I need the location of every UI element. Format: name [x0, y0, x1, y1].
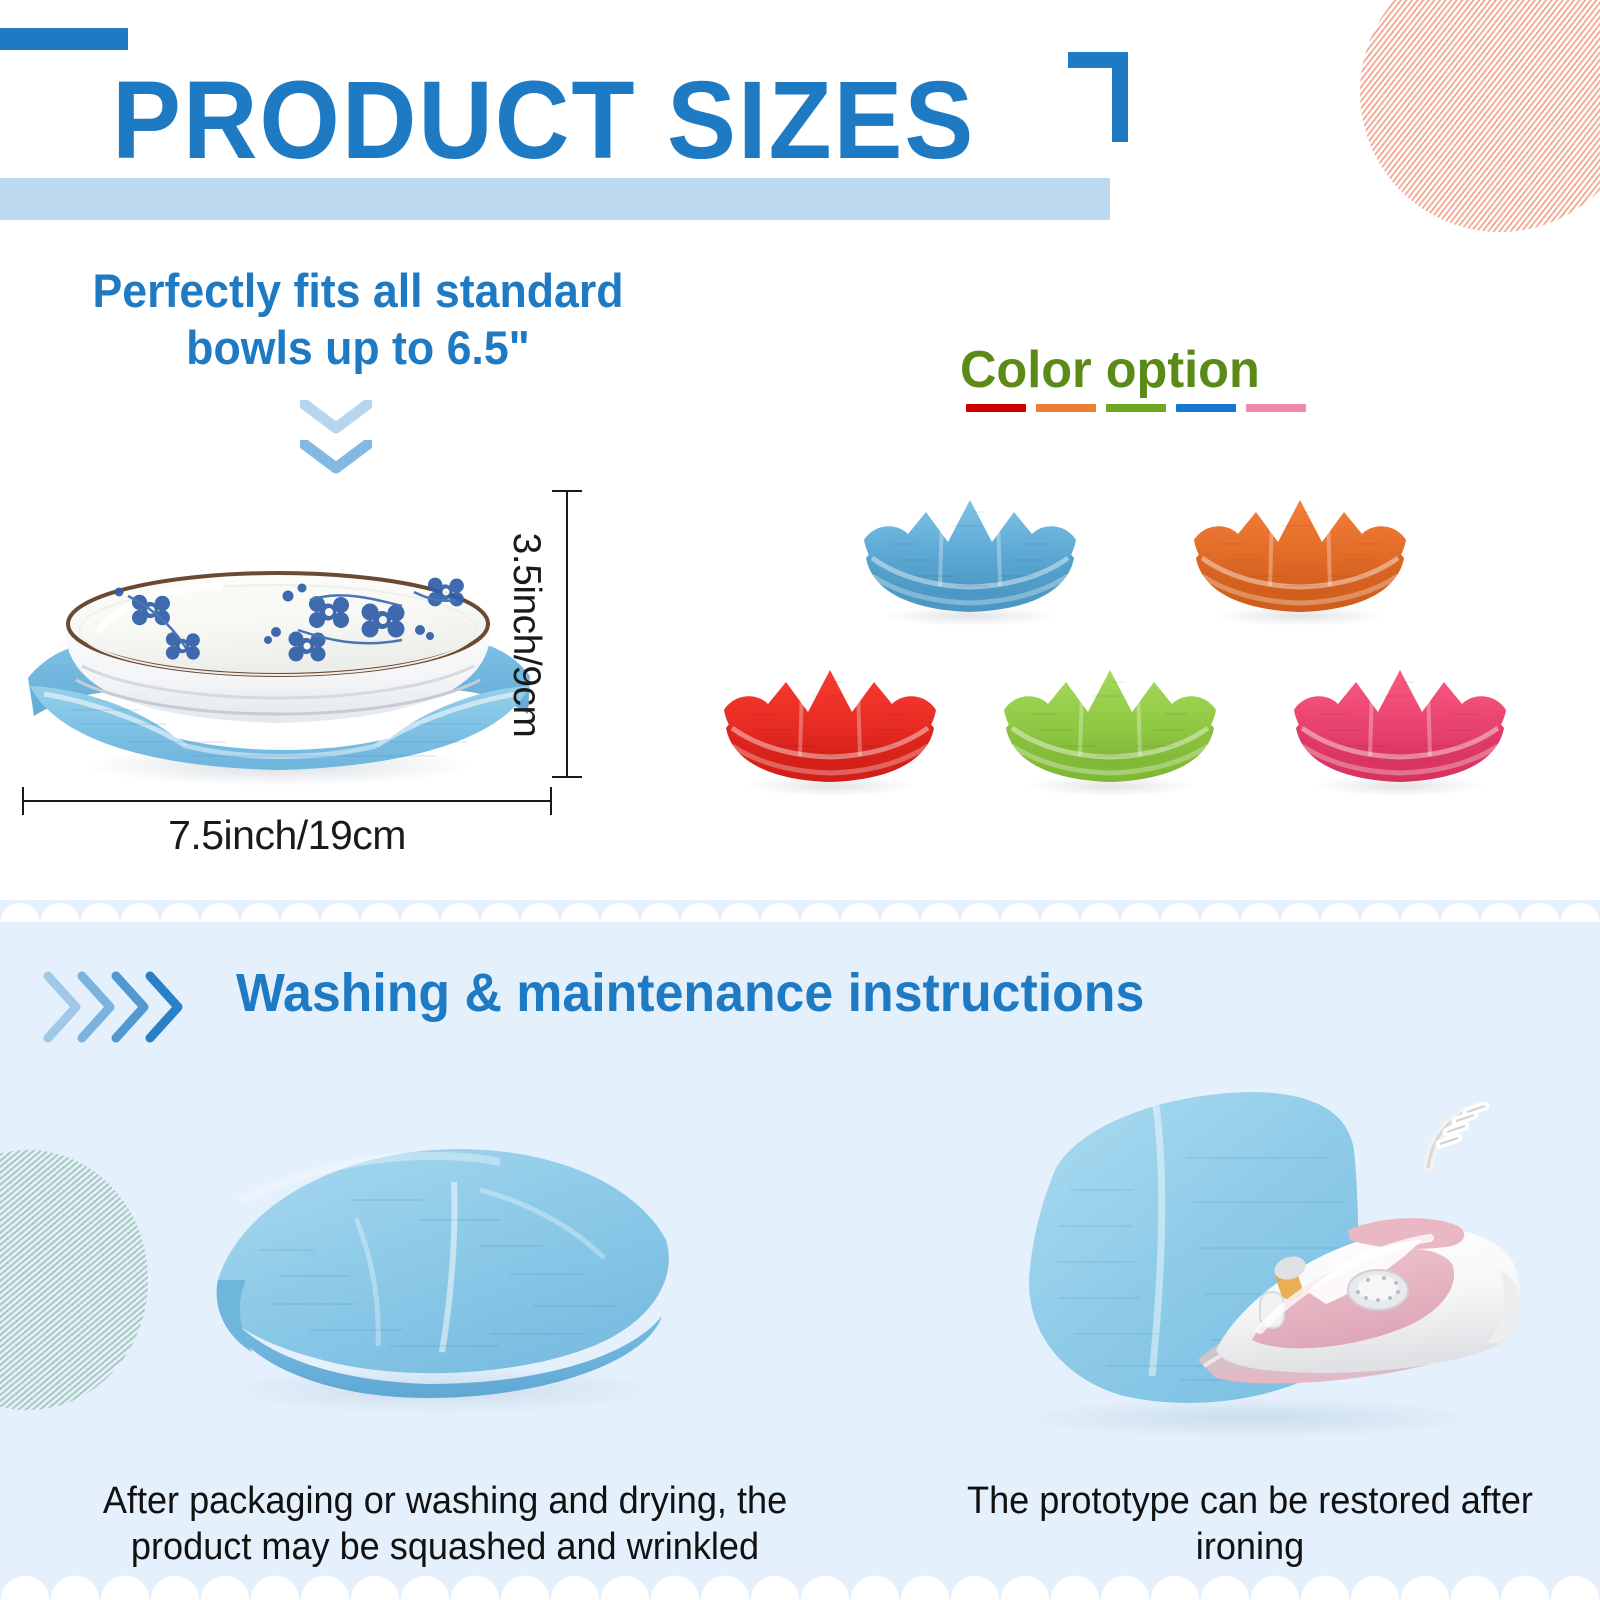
color-bar-orange	[1036, 404, 1096, 412]
fit-description: Perfectly fits all standard bowls up to …	[45, 262, 672, 376]
ironing-demo-image	[960, 1040, 1540, 1440]
color-option-bars	[966, 404, 1306, 412]
height-dimension-line	[566, 490, 568, 778]
hatched-circle-pink-decoration	[1360, 0, 1600, 232]
caption-ironing: The prototype can be restored after iron…	[965, 1478, 1535, 1570]
title-accent-dash	[0, 28, 128, 50]
cozy-swatch-light-blue	[846, 466, 1094, 626]
cozy-swatch-orange	[1176, 466, 1424, 626]
color-option-title: Color option	[960, 340, 1260, 400]
wave-top-edge	[0, 888, 1600, 922]
cozy-swatch-red	[706, 636, 954, 796]
hatched-circle-green-decoration	[0, 1150, 148, 1410]
page-title: PRODUCT SIZES	[112, 66, 975, 176]
color-bar-pink	[1246, 404, 1306, 412]
cozy-swatch-green	[986, 636, 1234, 796]
height-dimension-label: 3.5inch/9cm	[504, 500, 548, 770]
washing-instructions-title: Washing & maintenance instructions	[236, 962, 1144, 1024]
color-bar-red	[966, 404, 1026, 412]
width-dimension-label: 7.5inch/19cm	[22, 812, 552, 859]
color-bar-blue	[1176, 404, 1236, 412]
squashed-cozy-image	[180, 1090, 700, 1420]
chevron-right-icon-group	[42, 968, 222, 1048]
chevron-down-icon-group	[300, 400, 400, 480]
corner-bracket-decoration	[1068, 52, 1128, 142]
color-bar-green	[1106, 404, 1166, 412]
width-dimension-line	[22, 800, 552, 802]
wave-bottom-edge	[0, 1566, 1600, 1600]
hero-bowl-in-cozy-image	[10, 480, 550, 790]
caption-squashed: After packaging or washing and drying, t…	[51, 1478, 840, 1570]
product-sizes-section: PRODUCT SIZES Perfectly fits all standar…	[0, 0, 1600, 900]
cozy-swatch-pink	[1276, 636, 1524, 796]
title-underbar	[0, 178, 1110, 220]
